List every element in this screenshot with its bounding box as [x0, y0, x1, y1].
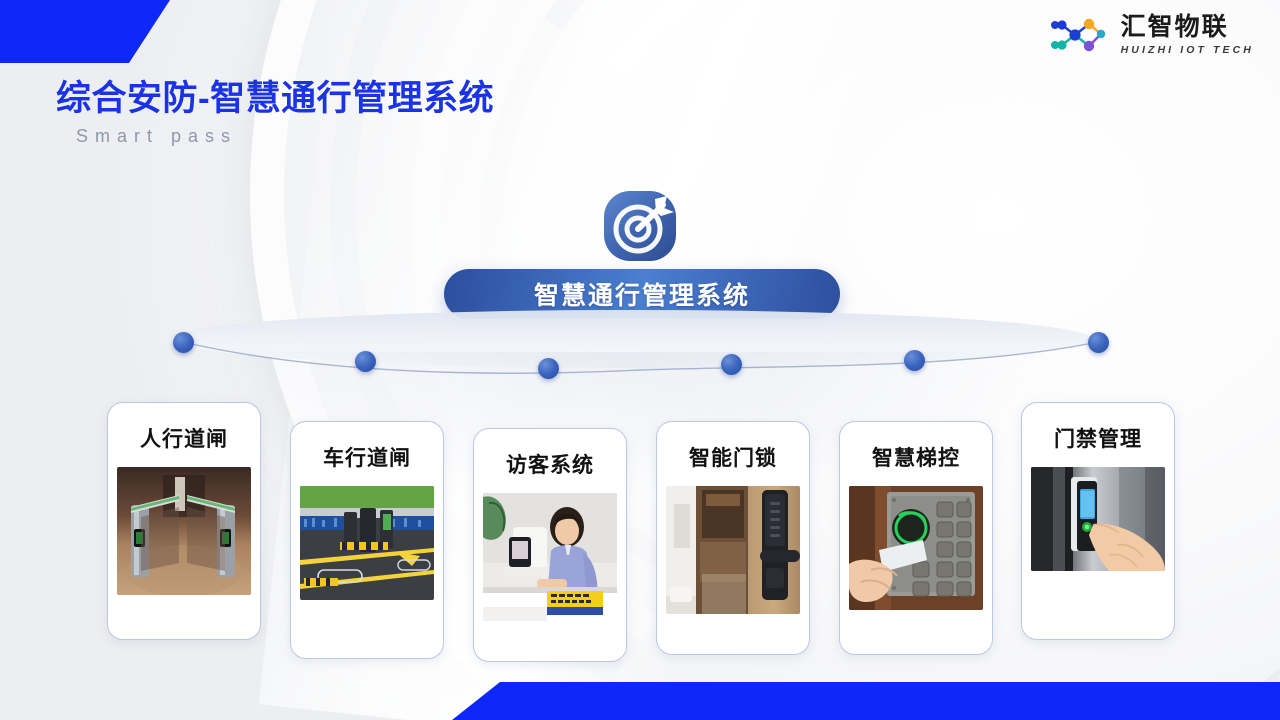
card-title: 人行道闸 — [140, 423, 228, 453]
bottom-right-blue-accent — [452, 682, 1280, 720]
connector-node-3 — [538, 358, 559, 379]
target-arrow-icon — [597, 188, 683, 264]
card-title: 智能门锁 — [689, 442, 777, 472]
connector-node-5 — [904, 350, 925, 371]
feature-card-visitor-system[interactable]: 访客系统 — [473, 428, 627, 662]
hero-banner-label: 智慧通行管理系统 — [534, 276, 750, 312]
connector-node-2 — [355, 351, 376, 372]
pedestrian-speed-gate-photo — [117, 467, 251, 595]
page-subtitle: Smart pass — [76, 126, 237, 147]
card-title: 门禁管理 — [1054, 423, 1142, 453]
brand-logo: 汇智物联 HUIZHI IOT TECH — [1049, 12, 1254, 58]
top-left-blue-accent — [0, 0, 170, 63]
card-title: 智慧梯控 — [872, 442, 960, 472]
smart-door-lock-photo — [666, 486, 800, 614]
connector-node-1 — [173, 332, 194, 353]
logo-name-en: HUIZHI IOT TECH — [1121, 45, 1254, 56]
card-title: 车行道闸 — [323, 442, 411, 472]
visitor-reception-photo — [483, 493, 617, 621]
connector-node-4 — [721, 354, 742, 375]
access-control-terminal-photo — [1031, 467, 1165, 571]
elevator-card-reader-photo — [849, 486, 983, 610]
feature-card-pedestrian-gate[interactable]: 人行道闸 — [107, 402, 261, 640]
feature-card-elevator-control[interactable]: 智慧梯控 — [839, 421, 993, 655]
page-title: 综合安防-智慧通行管理系统 — [56, 70, 494, 121]
vehicle-barrier-gate-photo — [300, 486, 434, 600]
feature-card-access-control[interactable]: 门禁管理 — [1021, 402, 1175, 640]
connector-line — [160, 325, 1120, 385]
slide-root: 综合安防-智慧通行管理系统 Smart pass 汇智物联 — [0, 0, 1280, 720]
connector-node-6 — [1088, 332, 1109, 353]
feature-card-vehicle-gate[interactable]: 车行道闸 — [290, 421, 444, 659]
molecule-network-icon — [1049, 12, 1111, 58]
feature-card-smart-lock[interactable]: 智能门锁 — [656, 421, 810, 655]
logo-name-cn: 汇智物联 — [1121, 15, 1254, 40]
card-title: 访客系统 — [506, 449, 594, 479]
